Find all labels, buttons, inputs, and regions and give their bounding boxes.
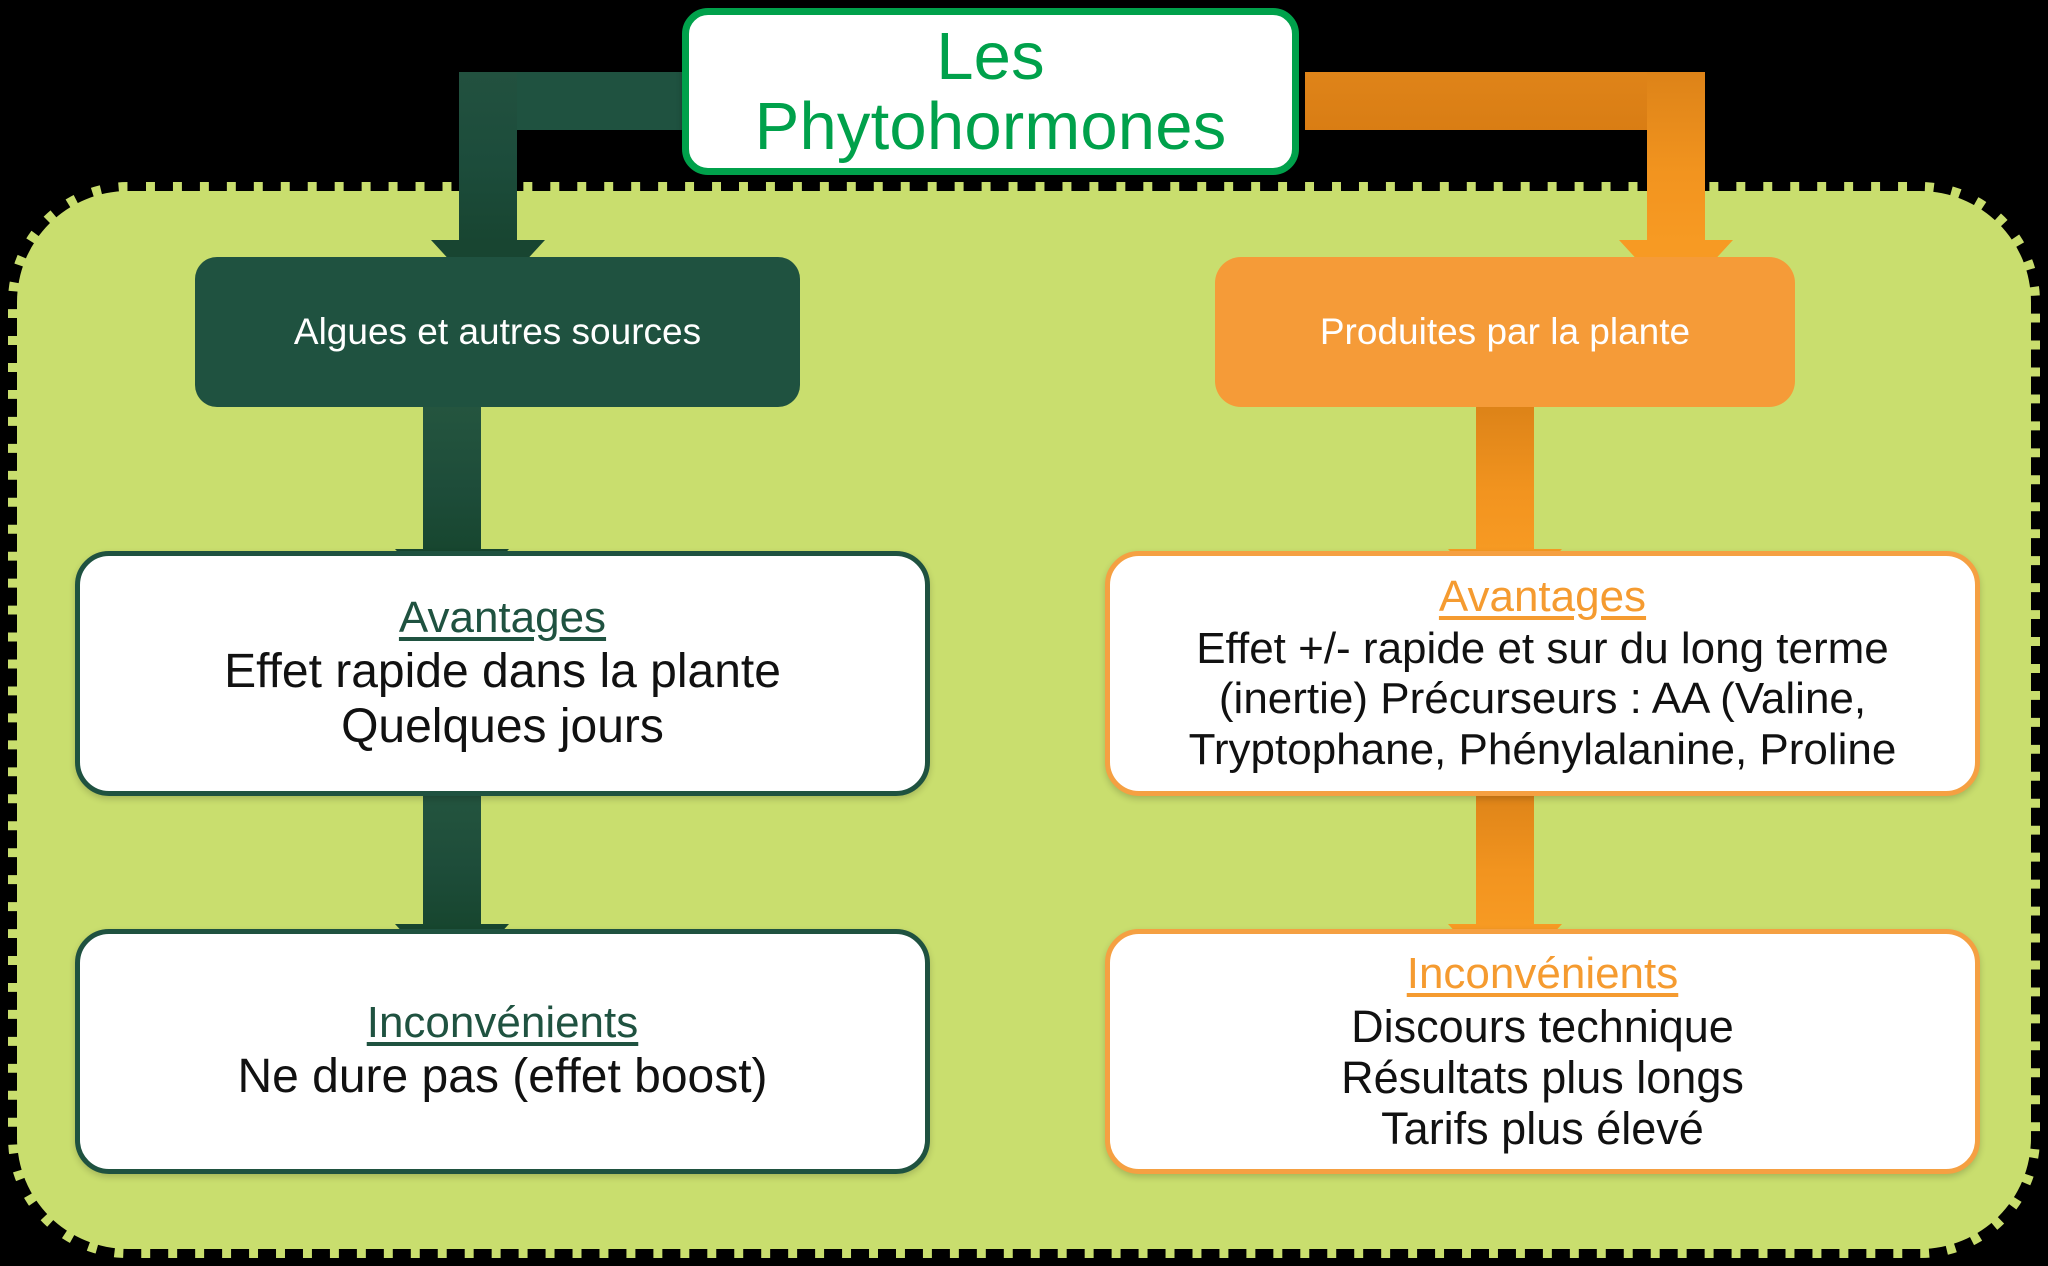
diagram-title-text: Les Phytohormones [755,22,1227,161]
card-heading: Inconvénients [367,998,639,1048]
card-inconvenients-plante[interactable]: Inconvénients Discours technique Résulta… [1105,929,1980,1174]
card-body-text: Ne dure pas (effet boost) [237,1050,767,1105]
card-avantages-plante[interactable]: Avantages Effet +/- rapide et sur du lon… [1105,551,1980,796]
connector-segment-vertical [1647,72,1705,242]
card-heading: Avantages [399,593,606,643]
card-body-text: Effet +/- rapide et sur du long terme (i… [1189,624,1897,774]
diagram-title-card: Les Phytohormones [682,8,1299,175]
arrow-shaft [423,790,481,926]
card-avantages-algues[interactable]: Avantages Effet rapide dans la plante Qu… [75,551,930,796]
branch-header-plante[interactable]: Produites par la plante [1215,257,1795,407]
card-heading: Avantages [1439,572,1646,622]
connector-segment-vertical [459,72,517,242]
arrow-shaft [1476,407,1534,551]
connector-segment-horizontal [1305,72,1705,130]
branch-header-label: Algues et autres sources [294,311,701,353]
connector-elbow-orange [1305,72,1705,272]
branch-header-label: Produites par la plante [1320,311,1690,353]
diagram-canvas: Les Phytohormones Algues et autres sourc… [0,0,2048,1266]
branch-header-algues[interactable]: Algues et autres sources [195,257,800,407]
arrow-shaft [423,407,481,551]
card-heading: Inconvénients [1407,949,1679,999]
arrow-shaft [1476,790,1534,926]
card-body-text: Effet rapide dans la plante Quelques jou… [224,645,781,754]
card-body-text: Discours technique Résultats plus longs … [1341,1001,1744,1155]
card-inconvenients-algues[interactable]: Inconvénients Ne dure pas (effet boost) [75,929,930,1174]
